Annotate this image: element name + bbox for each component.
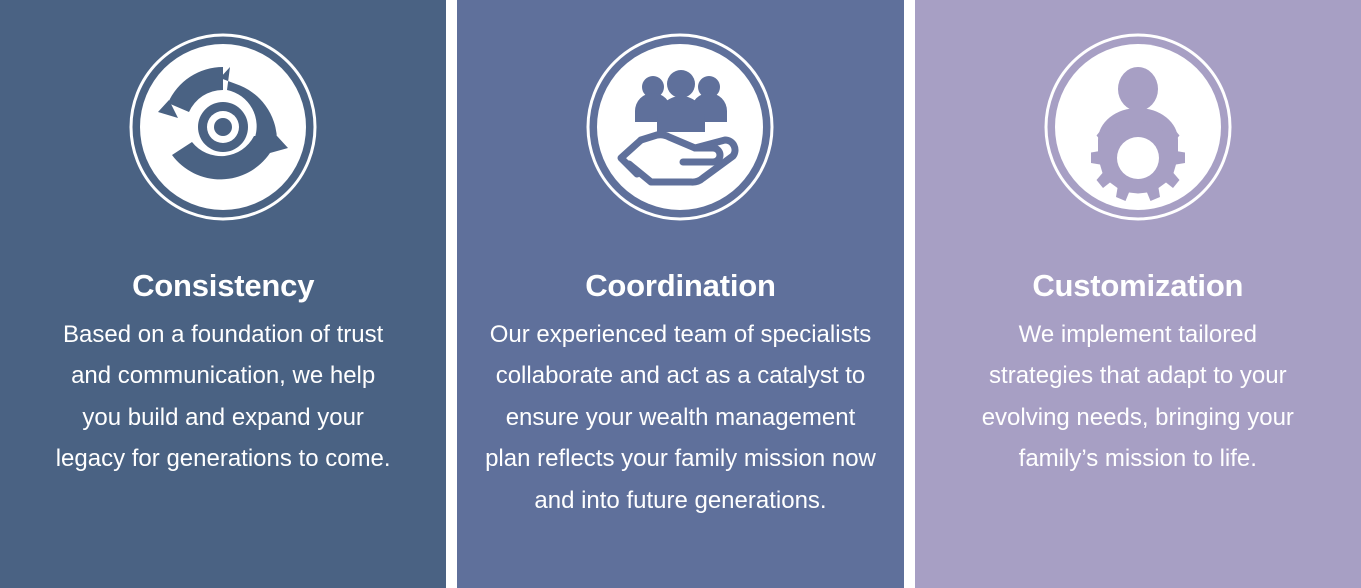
- panel-body: Based on a foundation of trust and commu…: [37, 314, 410, 480]
- person-gear-icon: [1043, 32, 1233, 222]
- panel-consistency: Consistency Based on a foundation of tru…: [0, 0, 446, 588]
- panel-customization: Customization We implement tailored stra…: [915, 0, 1361, 588]
- hand-holding-people-icon: [585, 32, 775, 222]
- panel-title: Customization: [1032, 270, 1243, 303]
- feature-panels: Consistency Based on a foundation of tru…: [0, 0, 1361, 588]
- panel-body: Our experienced team of specialists coll…: [466, 314, 894, 522]
- cycle-arrows-icon: [128, 32, 318, 222]
- panel-title: Coordination: [585, 270, 775, 303]
- panel-body: We implement tailored strategies that ad…: [959, 314, 1317, 480]
- panel-coordination: Coordination Our experienced team of spe…: [457, 0, 903, 588]
- panel-title: Consistency: [132, 270, 314, 303]
